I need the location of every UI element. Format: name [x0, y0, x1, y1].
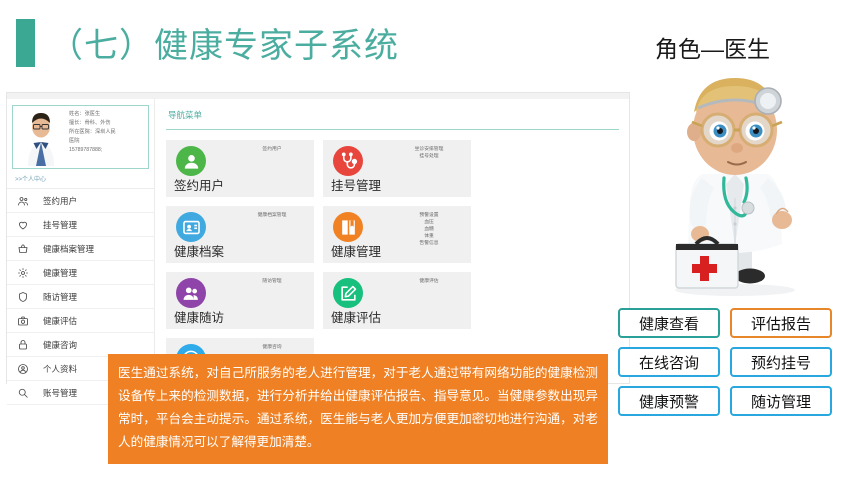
users-icon: [17, 194, 35, 208]
sidebar-item-3[interactable]: 健康档案管理: [7, 237, 154, 261]
sidebar-item-label: 签约用户: [43, 195, 77, 207]
module-tile-sublist: 预警设置血压血糖体重告警信息: [393, 212, 465, 247]
module-tile-subitem[interactable]: 签约用户: [236, 146, 308, 153]
action-button-4[interactable]: 预约挂号: [730, 347, 832, 377]
module-tile-4[interactable]: 预警设置血压血糖体重告警信息健康管理: [323, 206, 471, 263]
module-tile-subitem[interactable]: 健康档案管理: [236, 212, 308, 219]
module-tile-title: 健康档案: [174, 241, 224, 260]
profile-info: 姓名：张医生 擅长：骨科、外伤 所在医院：深圳人民 医院 15789787888…: [69, 110, 145, 155]
nav-menu-title: 导航菜单: [168, 109, 619, 121]
module-tile-sublist: 坐诊安排管理挂号处理: [393, 146, 465, 160]
action-button-6[interactable]: 随访管理: [730, 386, 832, 416]
role-label: 角色—医生: [655, 30, 770, 64]
gear-icon: [17, 266, 35, 280]
action-button-3[interactable]: 在线咨询: [618, 347, 720, 377]
sidebar-item-1[interactable]: 签约用户: [7, 189, 154, 213]
sidebar-item-label: 健康评估: [43, 315, 77, 327]
sidebar-item-2[interactable]: 挂号管理: [7, 213, 154, 237]
sidebar-item-5[interactable]: 随访管理: [7, 285, 154, 309]
profile-phone: 15789787888;: [69, 146, 145, 155]
profile-card: 姓名：张医生 擅长：骨科、外伤 所在医院：深圳人民 医院 15789787888…: [12, 105, 149, 169]
module-tile-title: 签约用户: [174, 175, 224, 194]
module-tile-subitem[interactable]: 血压: [393, 219, 465, 226]
page-title-text: （七）健康专家子系统: [49, 18, 399, 67]
edit-icon: [333, 278, 363, 308]
module-tile-subitem[interactable]: 挂号处理: [393, 153, 465, 160]
sidebar-item-label: 健康咨询: [43, 339, 77, 351]
module-tile-2[interactable]: 坐诊安排管理挂号处理挂号管理: [323, 140, 471, 197]
module-tile-title: 健康随访: [174, 307, 224, 326]
sidebar-item-4[interactable]: 健康管理: [7, 261, 154, 285]
module-tile-subitem[interactable]: 健康咨询: [236, 344, 308, 351]
action-button-2[interactable]: 评估报告: [730, 308, 832, 338]
module-tile-subitem[interactable]: 随访管理: [236, 278, 308, 285]
action-button-5[interactable]: 健康预警: [618, 386, 720, 416]
module-tile-sublist: 随访管理: [236, 278, 308, 285]
title-accent-bar: [16, 19, 35, 67]
user-circle-icon: [17, 362, 35, 376]
module-tile-subitem[interactable]: 健康评估: [393, 278, 465, 285]
sidebar-item-label: 个人资料: [43, 363, 77, 375]
module-tile-title: 挂号管理: [331, 175, 381, 194]
action-button-label: 在线咨询: [639, 352, 699, 373]
module-tile-subitem[interactable]: 体重: [393, 233, 465, 240]
nav-menu-header: 导航菜单: [166, 99, 619, 125]
personal-center-link[interactable]: >>个人中心: [7, 169, 154, 189]
module-tile-6[interactable]: 健康评估健康评估: [323, 272, 471, 329]
module-tile-3[interactable]: 健康档案管理健康档案: [166, 206, 314, 263]
nav-menu-divider: [166, 129, 619, 130]
idcard-icon: [176, 212, 206, 242]
sidebar-item-label: 账号管理: [43, 387, 77, 399]
sidebar-item-label: 健康档案管理: [43, 243, 94, 255]
profile-specialty: 擅长：骨科、外伤: [69, 119, 145, 128]
main-panel: 导航菜单 签约用户签约用户坐诊安排管理挂号处理挂号管理健康档案管理健康档案预警设…: [156, 99, 629, 383]
group-icon: [176, 278, 206, 308]
profile-name: 姓名：张医生: [69, 110, 145, 119]
search-icon: [17, 386, 35, 400]
person-icon: [176, 146, 206, 176]
sidebar: 姓名：张医生 擅长：骨科、外伤 所在医院：深圳人民 医院 15789787888…: [7, 99, 155, 385]
page-title: （七）健康专家子系统: [16, 18, 399, 67]
avatar: [18, 110, 64, 166]
module-tile-subitem[interactable]: 坐诊安排管理: [393, 146, 465, 153]
sidebar-item-label: 健康管理: [43, 267, 77, 279]
action-button-grid: 健康查看评估报告在线咨询预约挂号健康预警随访管理: [618, 308, 840, 416]
module-tile-sublist: 签约用户: [236, 146, 308, 153]
action-button-label: 随访管理: [751, 391, 811, 412]
heart-icon: [17, 218, 35, 232]
profile-hospital-cont: 医院: [69, 137, 145, 146]
module-tile-subitem[interactable]: 告警信息: [393, 240, 465, 247]
module-tile-title: 健康管理: [331, 241, 381, 260]
camera-icon: [17, 314, 35, 328]
action-button-1[interactable]: 健康查看: [618, 308, 720, 338]
module-tile-sublist: 健康评估: [393, 278, 465, 285]
module-tile-subitem[interactable]: 预警设置: [393, 212, 465, 219]
book-icon: [333, 212, 363, 242]
module-tile-sublist: 健康咨询: [236, 344, 308, 351]
action-button-label: 预约挂号: [751, 352, 811, 373]
sidebar-item-6[interactable]: 健康评估: [7, 309, 154, 333]
app-window: 姓名：张医生 擅长：骨科、外伤 所在医院：深圳人民 医院 15789787888…: [6, 92, 630, 384]
module-tile-5[interactable]: 随访管理健康随访: [166, 272, 314, 329]
basket-icon: [17, 242, 35, 256]
doctor-character-illustration: [640, 68, 830, 298]
action-button-label: 评估报告: [751, 313, 811, 334]
action-button-label: 健康查看: [639, 313, 699, 334]
module-tile-sublist: 健康档案管理: [236, 212, 308, 219]
lock-icon: [17, 338, 35, 352]
module-tile-subitem[interactable]: 血糖: [393, 226, 465, 233]
sidebar-item-label: 随访管理: [43, 291, 77, 303]
stethoscope-icon: [333, 146, 363, 176]
profile-hospital: 所在医院：深圳人民: [69, 128, 145, 137]
module-tile-title: 健康评估: [331, 307, 381, 326]
description-box: 医生通过系统，对自己所服务的老人进行管理，对于老人通过带有网络功能的健康检测设备…: [108, 354, 608, 464]
action-button-label: 健康预警: [639, 391, 699, 412]
module-tile-1[interactable]: 签约用户签约用户: [166, 140, 314, 197]
sidebar-item-label: 挂号管理: [43, 219, 77, 231]
shield-icon: [17, 290, 35, 304]
description-text: 医生通过系统，对自己所服务的老人进行管理，对于老人通过带有网络功能的健康检测设备…: [118, 362, 598, 454]
